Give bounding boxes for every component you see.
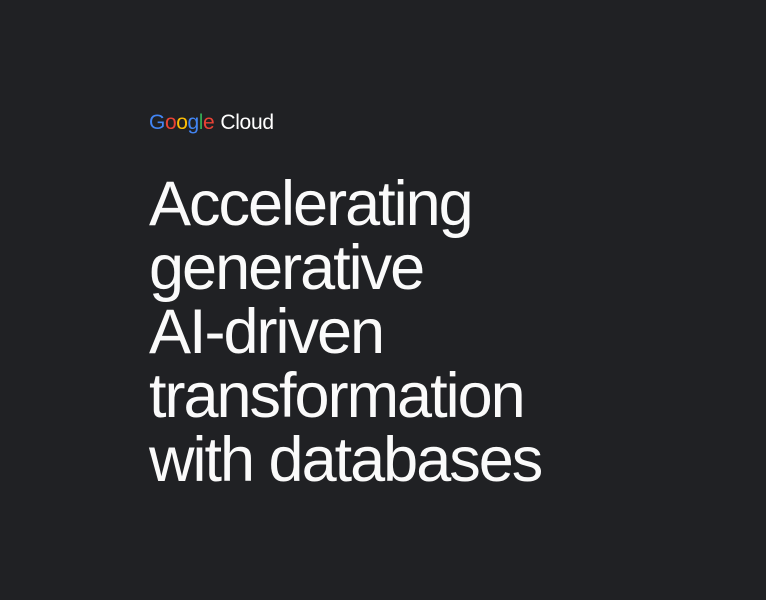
google-cloud-logo[interactable]: Google Cloud bbox=[149, 112, 274, 133]
headline-line-1: Accelerating bbox=[149, 172, 709, 236]
headline-line-2: generative bbox=[149, 236, 709, 300]
title-slide: Google Cloud AcceleratinggenerativeAI-dr… bbox=[0, 0, 766, 600]
google-letter-0: G bbox=[149, 112, 165, 133]
page-title: AcceleratinggenerativeAI-driventransform… bbox=[149, 172, 709, 492]
google-letter-5: e bbox=[203, 112, 214, 133]
google-letter-3: g bbox=[188, 112, 199, 133]
headline-line-4: transformation bbox=[149, 364, 709, 428]
headline-line-3: AI-driven bbox=[149, 300, 709, 364]
google-letter-2: o bbox=[176, 112, 187, 133]
headline-line-5: with databases bbox=[149, 428, 709, 492]
cloud-wordmark: Cloud bbox=[220, 112, 273, 133]
google-letter-1: o bbox=[165, 112, 176, 133]
google-wordmark: Google bbox=[149, 112, 214, 133]
